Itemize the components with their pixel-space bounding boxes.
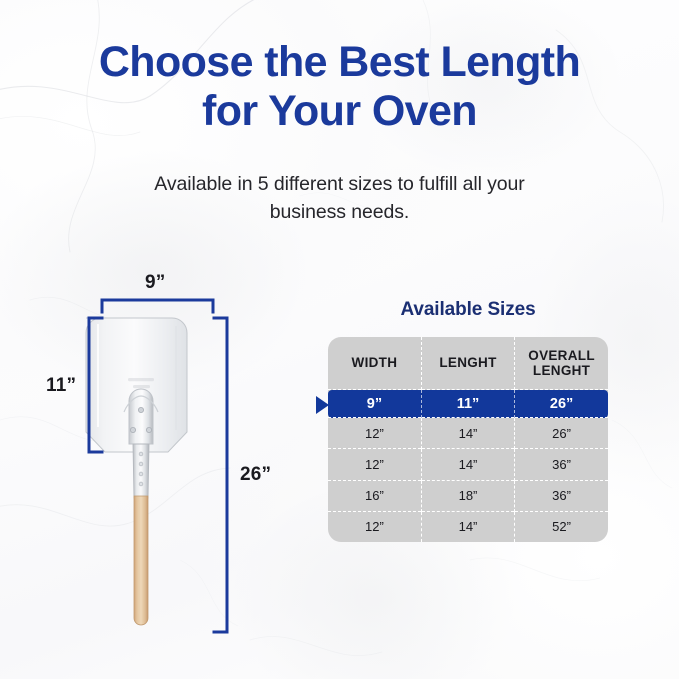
cell-overall: 52” <box>515 511 608 542</box>
column-header-length: LENGHT <box>421 337 514 390</box>
cell-length: 14” <box>421 449 514 480</box>
peel-wood-handle <box>134 496 148 625</box>
width-dimension-label: 9” <box>145 272 165 294</box>
cell-width: 12” <box>328 449 421 480</box>
cell-overall: 26” <box>515 418 608 449</box>
cell-overall: 36” <box>515 449 608 480</box>
peel-socket <box>124 389 158 444</box>
cell-width: 12” <box>328 418 421 449</box>
height-dimension-label: 11” <box>46 375 76 397</box>
table-row[interactable]: 16” 18” 36” <box>328 480 608 511</box>
cell-length: 18” <box>421 480 514 511</box>
cell-length: 14” <box>421 511 514 542</box>
cell-width: 16” <box>328 480 421 511</box>
cell-width: 12” <box>328 511 421 542</box>
available-sizes-panel: WIDTH LENGHT OVERALL LENGHT 9” 11” 26” 1… <box>328 337 608 542</box>
page-title: Choose the Best Length for Your Oven <box>0 38 679 135</box>
table-header-row: WIDTH LENGHT OVERALL LENGHT <box>328 337 608 390</box>
cell-width: 9” <box>328 390 421 418</box>
sizes-table: WIDTH LENGHT OVERALL LENGHT 9” 11” 26” 1… <box>328 337 608 542</box>
table-row[interactable]: 12” 14” 26” <box>328 418 608 449</box>
infographic-canvas: Choose the Best Length for Your Oven Ava… <box>0 0 679 679</box>
width-dimension-bracket <box>102 300 213 312</box>
cell-length: 14” <box>421 418 514 449</box>
peel-metal-shaft <box>133 444 149 498</box>
available-sizes-title: Available Sizes <box>328 299 608 321</box>
cell-overall: 36” <box>515 480 608 511</box>
table-row[interactable]: 12” 14” 36” <box>328 449 608 480</box>
overall-length-dimension-bracket <box>214 318 227 632</box>
overall-length-dimension-label: 26” <box>240 464 271 486</box>
column-header-overall-length: OVERALL LENGHT <box>515 337 608 390</box>
column-header-width: WIDTH <box>328 337 421 390</box>
table-row[interactable]: 12” 14” 52” <box>328 511 608 542</box>
product-illustration <box>36 262 316 652</box>
table-row[interactable]: 9” 11” 26” <box>328 390 608 418</box>
page-subtitle: Available in 5 different sizes to fulfil… <box>0 170 679 227</box>
cell-overall: 26” <box>515 390 608 418</box>
cell-length: 11” <box>421 390 514 418</box>
